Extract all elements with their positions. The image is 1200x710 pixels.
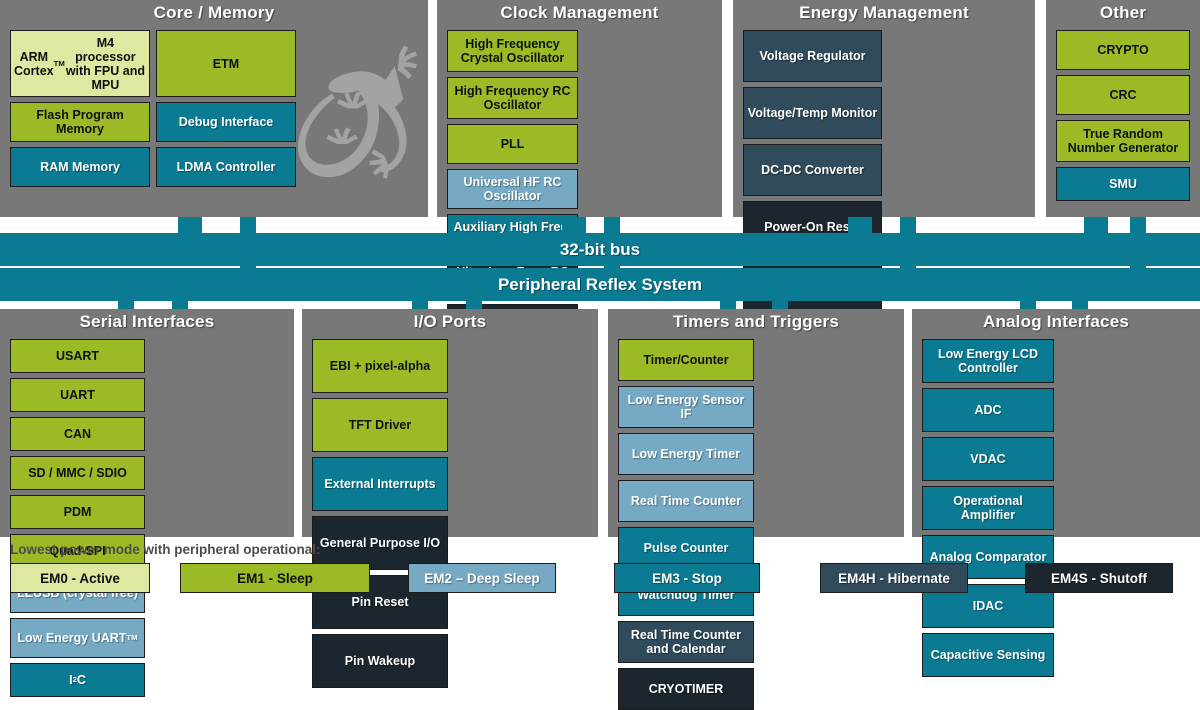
- panel-title: Energy Management: [733, 3, 1035, 23]
- panel-title: Serial Interfaces: [0, 312, 294, 332]
- panel-io-ports: I/O Ports EBI + pixel-alphaTFT DriverExt…: [302, 309, 598, 537]
- block-high-frequency-rc-oscillator[interactable]: High Frequency RC Oscillator: [447, 77, 578, 119]
- block-external-interrupts[interactable]: External Interrupts: [312, 457, 448, 511]
- bus-peripheral-reflex-system: Peripheral Reflex System: [0, 268, 1200, 301]
- bus-32bit: 32-bit bus: [0, 233, 1200, 266]
- legend-caption: Lowest power mode with peripheral operat…: [10, 542, 321, 557]
- block-low-energy-sensor-if[interactable]: Low Energy Sensor IF: [618, 386, 754, 428]
- block-grid: Timer/CounterLow Energy Sensor IFLow Ene…: [618, 339, 894, 528]
- block-grid: Voltage RegulatorVoltage/Temp MonitorDC-…: [743, 30, 1025, 208]
- block-low-energy-timer[interactable]: Low Energy Timer: [618, 433, 754, 475]
- block-sd-mmc-sdio[interactable]: SD / MMC / SDIO: [10, 456, 145, 490]
- block-adc[interactable]: ADC: [922, 388, 1054, 432]
- block-dc-dc-converter[interactable]: DC-DC Converter: [743, 144, 882, 196]
- block-grid: Low Energy LCD ControllerADCVDACOperatio…: [922, 339, 1190, 528]
- block-voltage-temp-monitor[interactable]: Voltage/Temp Monitor: [743, 87, 882, 139]
- block-can[interactable]: CAN: [10, 417, 145, 451]
- block-ldma-controller[interactable]: LDMA Controller: [156, 147, 296, 187]
- block-grid: High Frequency Crystal OscillatorHigh Fr…: [447, 30, 712, 208]
- legend-swatch-em2: EM2 – Deep Sleep: [408, 563, 556, 593]
- block-real-time-counter[interactable]: Real Time Counter: [618, 480, 754, 522]
- panel-title: Timers and Triggers: [608, 312, 904, 332]
- block-real-time-counter-and-calendar[interactable]: Real Time Counter and Calendar: [618, 621, 754, 663]
- block-tft-driver[interactable]: TFT Driver: [312, 398, 448, 452]
- bus-connector-stub: [562, 217, 586, 233]
- panel-energy-management: Energy Management Voltage RegulatorVolta…: [733, 0, 1035, 217]
- block-high-frequency-crystal-oscillator[interactable]: High Frequency Crystal Oscillator: [447, 30, 578, 72]
- block-pin-wakeup[interactable]: Pin Wakeup: [312, 634, 448, 688]
- block-pdm[interactable]: PDM: [10, 495, 145, 529]
- block-flash-program-memory[interactable]: Flash Program Memory: [10, 102, 150, 142]
- block-capacitive-sensing[interactable]: Capacitive Sensing: [922, 633, 1054, 677]
- block-grid: USARTUARTCANSD / MMC / SDIOPDMQuad-SPILE…: [10, 339, 284, 528]
- panel-timers-triggers: Timers and Triggers Timer/CounterLow Ene…: [608, 309, 904, 537]
- block-vdac[interactable]: VDAC: [922, 437, 1054, 481]
- block-operational-amplifier[interactable]: Operational Amplifier: [922, 486, 1054, 530]
- block-cryotimer[interactable]: CRYOTIMER: [618, 668, 754, 710]
- panel-title: Core / Memory: [0, 3, 428, 23]
- block-low-energy-uart[interactable]: Low Energy UARTTM: [10, 618, 145, 658]
- panel-analog-interfaces: Analog Interfaces Low Energy LCD Control…: [912, 309, 1200, 537]
- block-smu[interactable]: SMU: [1056, 167, 1190, 201]
- legend-swatch-em3: EM3 - Stop: [614, 563, 760, 593]
- block-usart[interactable]: USART: [10, 339, 145, 373]
- block-general-purpose-i-o[interactable]: General Purpose I/O: [312, 516, 448, 570]
- legend-swatch-em1: EM1 - Sleep: [180, 563, 370, 593]
- panel-title: Analog Interfaces: [912, 312, 1200, 332]
- block-arm-cortex-m4-processor-with-fpu-and-mpu[interactable]: ARM CortexTM M4 processor with FPU and M…: [10, 30, 150, 97]
- bus-connector-stub: [848, 217, 872, 233]
- block-pll[interactable]: PLL: [447, 124, 578, 164]
- legend-swatch-em0: EM0 - Active: [10, 563, 150, 593]
- block-crc[interactable]: CRC: [1056, 75, 1190, 115]
- block-low-energy-lcd-controller[interactable]: Low Energy LCD Controller: [922, 339, 1054, 383]
- panel-title: I/O Ports: [302, 312, 598, 332]
- bus-connector-stub: [1084, 217, 1108, 233]
- panel-serial-interfaces: Serial Interfaces USARTUARTCANSD / MMC /…: [0, 309, 294, 537]
- panel-clock-management: Clock Management High Frequency Crystal …: [437, 0, 722, 217]
- panel-core-memory: Core / Memory ARM CortexTM M4 processor …: [0, 0, 428, 217]
- block-i-c[interactable]: I2C: [10, 663, 145, 697]
- bus-label: 32-bit bus: [560, 240, 640, 260]
- block-debug-interface[interactable]: Debug Interface: [156, 102, 296, 142]
- block-ebi-pixel-alpha[interactable]: EBI + pixel-alpha: [312, 339, 448, 393]
- block-true-random-number-generator[interactable]: True Random Number Generator: [1056, 120, 1190, 162]
- gecko-logo-icon: [295, 42, 421, 202]
- block-grid: CRYPTOCRCTrue Random Number GeneratorSMU: [1056, 30, 1190, 208]
- bus-label: Peripheral Reflex System: [498, 275, 702, 295]
- panel-title: Other: [1046, 3, 1200, 23]
- legend-swatch-em4s: EM4S - Shutoff: [1025, 563, 1173, 593]
- block-uart[interactable]: UART: [10, 378, 145, 412]
- legend-swatch-em4h: EM4H - Hibernate: [820, 563, 968, 593]
- block-grid: EBI + pixel-alphaTFT DriverExternal Inte…: [312, 339, 588, 528]
- block-ram-memory[interactable]: RAM Memory: [10, 147, 150, 187]
- block-voltage-regulator[interactable]: Voltage Regulator: [743, 30, 882, 82]
- panel-title: Clock Management: [437, 3, 722, 23]
- bus-connector-stub: [178, 217, 202, 233]
- block-timer-counter[interactable]: Timer/Counter: [618, 339, 754, 381]
- block-crypto[interactable]: CRYPTO: [1056, 30, 1190, 70]
- block-universal-hf-rc-oscillator[interactable]: Universal HF RC Oscillator: [447, 169, 578, 209]
- block-etm[interactable]: ETM: [156, 30, 296, 97]
- panel-other: Other CRYPTOCRCTrue Random Number Genera…: [1046, 0, 1200, 217]
